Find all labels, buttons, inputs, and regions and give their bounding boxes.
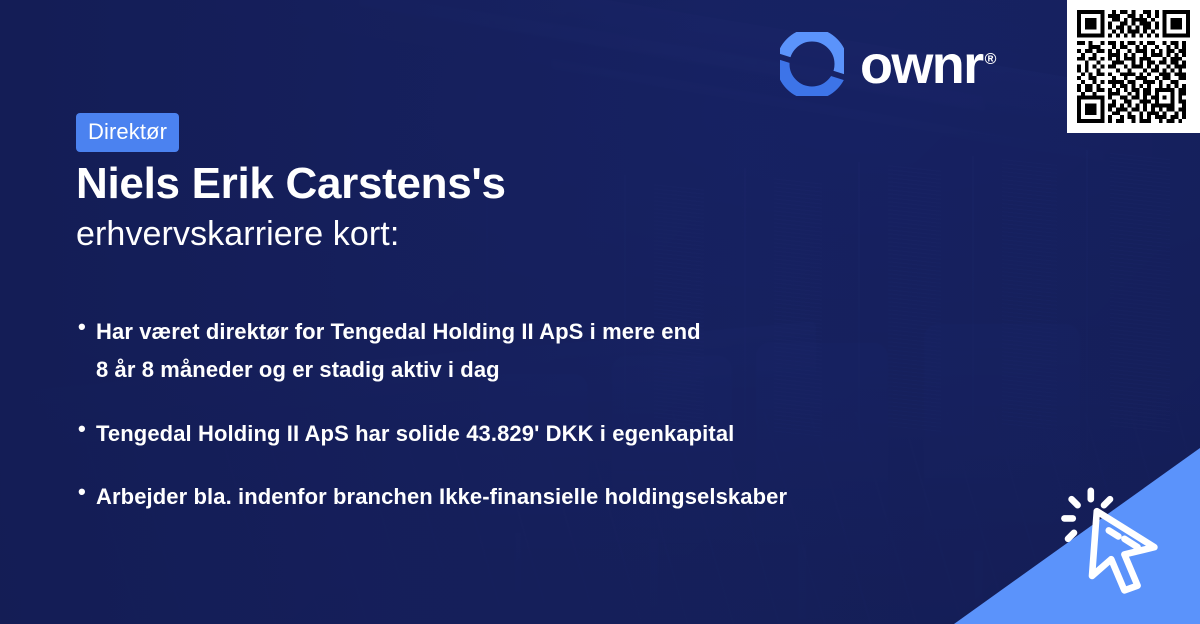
list-item: • Arbejder bla. indenfor branchen Ikke-f…: [78, 478, 1038, 516]
bullet-marker-icon: •: [78, 415, 96, 443]
ownr-wordmark: ownr®: [860, 38, 996, 92]
registered-trademark-icon: ®: [985, 51, 997, 68]
list-item-text: Tengedal Holding II ApS har solide 43.82…: [96, 415, 734, 453]
list-item: • Har været direktør for Tengedal Holdin…: [78, 313, 1038, 389]
bullet-marker-icon: •: [78, 313, 96, 341]
list-item-text: Arbejder bla. indenfor branchen Ikke-fin…: [96, 478, 787, 516]
ownr-wordmark-text: ownr: [860, 35, 983, 95]
career-card: Direktør Niels Erik Carstens's erhvervsk…: [0, 0, 1200, 624]
role-badge: Direktør: [76, 113, 179, 152]
career-highlights-list: • Har været direktør for Tengedal Holdin…: [78, 313, 1038, 542]
page-title: Niels Erik Carstens's: [76, 157, 506, 211]
list-item-text: Har været direktør for Tengedal Holding …: [96, 313, 701, 389]
list-item: • Tengedal Holding II ApS har solide 43.…: [78, 415, 1038, 453]
bullet-marker-icon: •: [78, 478, 96, 506]
ownr-swirl-logo-icon: [780, 32, 844, 96]
ownr-logo[interactable]: ownr®: [780, 32, 996, 96]
qr-code-panel[interactable]: [1067, 0, 1200, 133]
qr-code-icon[interactable]: [1077, 10, 1190, 123]
page-subtitle: erhvervskarriere kort:: [76, 213, 399, 256]
